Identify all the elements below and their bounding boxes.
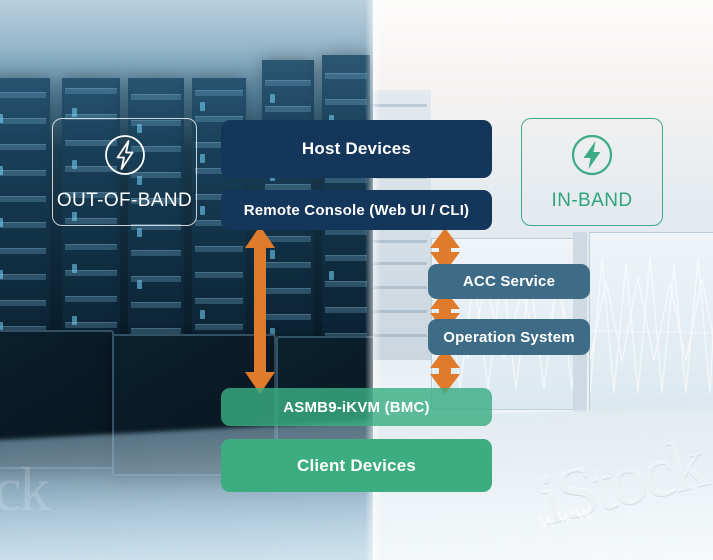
node-acc-service[interactable]: ACC Service — [428, 264, 590, 299]
zone-out-of-band: OUT-OF-BAND — [52, 118, 197, 226]
waveform-graphic — [590, 233, 713, 411]
zone-label-out-of-band: OUT-OF-BAND — [57, 190, 192, 212]
lightning-bolt-outline-icon — [102, 132, 148, 178]
zone-label-in-band: IN-BAND — [552, 190, 633, 212]
node-asmb9-ikvm-bmc[interactable]: ASMB9-iKVM (BMC) — [221, 388, 492, 426]
connector-out-of-band-arrow — [242, 226, 278, 394]
diagram-canvas: ck — [0, 0, 713, 560]
node-remote-console[interactable]: Remote Console (Web UI / CLI) — [221, 190, 492, 230]
node-label: ASMB9-iKVM (BMC) — [283, 399, 430, 416]
server-rack — [0, 78, 50, 368]
node-label: Client Devices — [297, 456, 416, 476]
waveform-screen — [589, 232, 713, 412]
zone-in-band: IN-BAND — [521, 118, 663, 226]
watermark-left: ck — [0, 455, 49, 526]
lightning-bolt-filled-icon — [569, 132, 615, 178]
node-label: Remote Console (Web UI / CLI) — [244, 202, 470, 219]
node-operation-system[interactable]: Operation System — [428, 319, 590, 355]
node-label: Host Devices — [302, 139, 411, 159]
node-label: ACC Service — [463, 273, 555, 290]
node-label: Operation System — [443, 329, 575, 346]
node-client-devices[interactable]: Client Devices — [221, 439, 492, 492]
node-host-devices[interactable]: Host Devices — [221, 120, 492, 178]
